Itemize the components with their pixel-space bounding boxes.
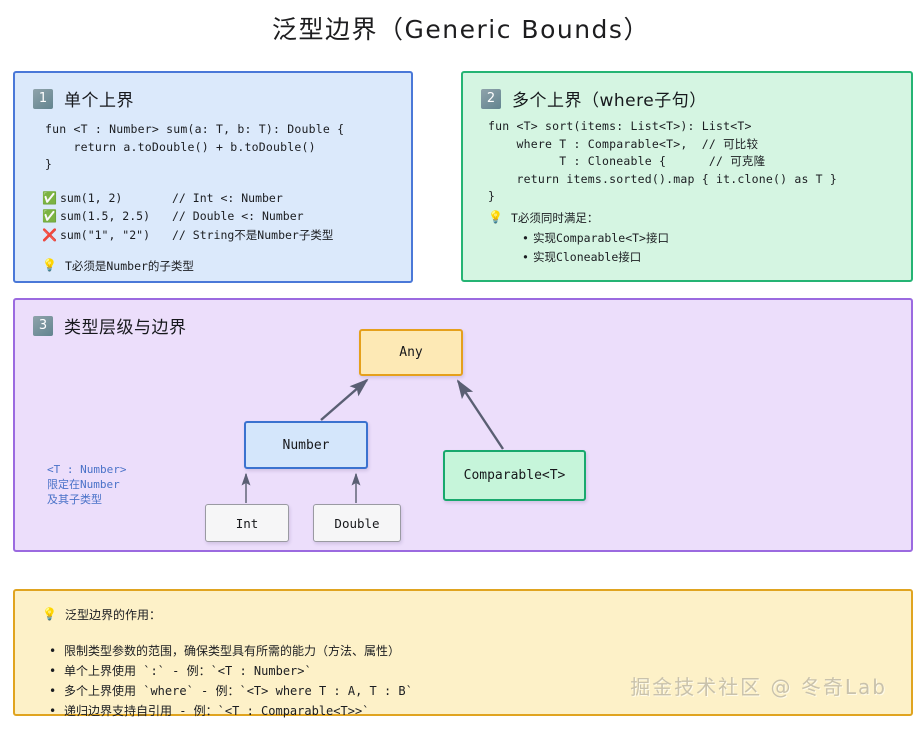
node-any: Any [359,329,463,376]
panel2-tip-body: T必须同时满足： 实现Comparable<T>接口 实现Cloneable接口 [511,210,669,267]
panel4-tip-text: 泛型边界的作用： [65,607,161,623]
node-comparable: Comparable<T> [443,450,586,501]
list-item: 实现Cloneable接口 [533,248,669,267]
list-item: 多个上界使用 `where` - 例：`<T> where T : A, T :… [49,681,413,701]
panel4-tip: 💡 泛型边界的作用： [42,607,161,623]
list-item: 限制类型参数的范围，确保类型具有所需的能力（方法、属性） [49,641,413,661]
panel2-code-block: fun <T> sort(items: List<T>): List<T> wh… [488,118,837,206]
example-row: ✅ sum(1.5, 2.5) // Double <: Number [42,209,333,227]
panel-multiple-upper-bounds: 2 多个上界（where子句） fun <T> sort(items: List… [461,71,913,282]
example-call: sum("1", "2") [60,228,172,242]
panel1-number-badge: 1 [33,89,53,109]
panel2-title: 多个上界（where子句） [512,86,707,111]
diagram-edges [15,300,915,554]
example-note: // Int <: Number [172,191,283,205]
panel2-tip: 💡 T必须同时满足： 实现Comparable<T>接口 实现Cloneable… [488,210,669,267]
panel1-title: 单个上界 [64,86,134,111]
panel-single-upper-bound: 1 单个上界 fun <T : Number> sum(a: T, b: T):… [13,71,413,283]
list-item: 递归边界支持自引用 - 例：`<T : Comparable<T>>` [49,701,413,721]
lightbulb-icon: 💡 [42,607,57,622]
bound-annotation: <T : Number> 限定在Number 及其子类型 [47,462,126,507]
list-item: 单个上界使用 `:` - 例：`<T : Number>` [49,661,413,681]
panel1-tip: 💡 T必须是Number的子类型 [42,258,194,274]
check-icon: ✅ [42,191,60,205]
list-item: 实现Comparable<T>接口 [533,229,669,248]
cross-icon: ❌ [42,228,60,242]
lightbulb-icon: 💡 [42,258,57,273]
example-row: ❌ sum("1", "2") // String不是Number子类型 [42,227,333,245]
page-title: 泛型边界（Generic Bounds） [0,10,922,46]
panel2-tip-sublist: 实现Comparable<T>接口 实现Cloneable接口 [511,229,669,267]
panel4-bullet-list: 限制类型参数的范围，确保类型具有所需的能力（方法、属性） 单个上界使用 `:` … [49,641,413,721]
node-double: Double [313,504,401,542]
example-row: ✅ sum(1, 2) // Int <: Number [42,191,333,209]
panel2-heading: 2 多个上界（where子句） [481,86,707,111]
node-int: Int [205,504,289,542]
panel1-heading: 1 单个上界 [33,86,134,111]
node-number: Number [244,421,368,469]
type-hierarchy-diagram: Any Number Comparable<T> Int Double <T :… [15,300,915,554]
panel1-example-list: ✅ sum(1, 2) // Int <: Number ✅ sum(1.5, … [42,191,333,245]
example-call: sum(1, 2) [60,191,172,205]
panel2-number-badge: 2 [481,89,501,109]
lightbulb-icon: 💡 [488,210,503,225]
panel-summary: 💡 泛型边界的作用： 限制类型参数的范围，确保类型具有所需的能力（方法、属性） … [13,589,913,716]
panel1-tip-text: T必须是Number的子类型 [65,258,194,274]
check-icon: ✅ [42,209,60,223]
panel-type-hierarchy: 3 类型层级与边界 Any Number Comparable<T> Int D… [13,298,913,552]
panel2-tip-text: T必须同时满足： [511,210,669,226]
example-call: sum(1.5, 2.5) [60,209,172,223]
panel1-code-block: fun <T : Number> sum(a: T, b: T): Double… [45,121,344,174]
example-note: // Double <: Number [172,209,304,223]
watermark: 掘金技术社区 @ 冬奇Lab [630,671,887,700]
example-note: // String不是Number子类型 [172,227,333,243]
